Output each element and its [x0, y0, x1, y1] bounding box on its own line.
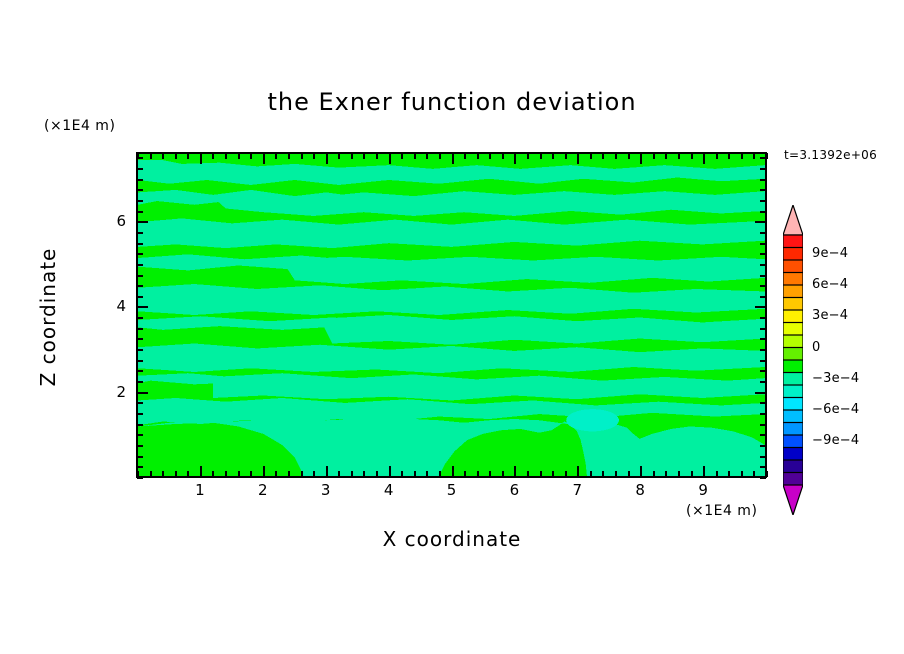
axis-tick: [760, 232, 766, 234]
axis-tick: [678, 471, 680, 477]
axis-tick: [760, 434, 766, 436]
axis-tick: [665, 471, 667, 477]
colorbar-tick-label: −6e−4: [812, 402, 859, 417]
axis-tick: [187, 471, 189, 477]
axis-tick: [703, 153, 705, 164]
axis-tick: [137, 434, 143, 436]
axis-tick: [728, 471, 730, 477]
axis-tick: [760, 360, 766, 362]
axis-tick: [401, 471, 403, 477]
axis-tick: [760, 456, 766, 458]
axis-tick: [313, 471, 315, 477]
axis-tick: [577, 153, 579, 164]
axis-tick: [137, 232, 143, 234]
axis-tick: [527, 471, 529, 477]
axis-tick: [137, 424, 143, 426]
axis-tick: [755, 392, 766, 394]
axis-tick: [716, 471, 718, 477]
timestamp-annotation: t=3.1392e+06: [784, 148, 877, 162]
y-axis-unit-label: (×1E4 m): [44, 118, 115, 134]
y-tick-label: 4: [104, 297, 126, 315]
axis-tick: [275, 471, 277, 477]
colorbar-tick-label: −3e−4: [812, 371, 859, 386]
x-tick-label: 5: [440, 481, 464, 499]
axis-tick: [477, 153, 479, 159]
axis-tick: [741, 471, 743, 477]
axis-tick: [766, 471, 768, 477]
axis-tick: [760, 370, 766, 372]
axis-tick: [552, 471, 554, 477]
axis-tick: [263, 153, 265, 164]
axis-tick: [760, 157, 766, 159]
y-tick-label: 2: [104, 383, 126, 401]
colorbar-tick-label: 0: [812, 340, 820, 355]
axis-tick: [665, 153, 667, 159]
axis-tick: [288, 153, 290, 159]
axis-tick: [464, 471, 466, 477]
axis-tick: [238, 471, 240, 477]
axis-tick: [200, 466, 202, 477]
axis-tick: [755, 306, 766, 308]
axis-tick: [137, 381, 143, 383]
x-tick-label: 7: [565, 481, 589, 499]
axis-tick: [338, 153, 340, 159]
axis-tick: [760, 328, 766, 330]
axis-tick: [137, 370, 143, 372]
axis-tick: [175, 153, 177, 159]
axis-tick: [212, 471, 214, 477]
axis-tick: [760, 253, 766, 255]
axis-tick: [137, 392, 148, 394]
axis-tick: [389, 153, 391, 164]
axis-tick: [137, 349, 143, 351]
colorbar-swatches: [783, 205, 803, 515]
y-tick-label: 6: [104, 212, 126, 230]
axis-tick: [760, 296, 766, 298]
axis-tick: [760, 168, 766, 170]
axis-tick: [760, 179, 766, 181]
axis-tick: [452, 153, 454, 164]
axis-tick: [137, 253, 143, 255]
colorbar[interactable]: [783, 205, 803, 515]
axis-tick: [760, 445, 766, 447]
contour-plot-area[interactable]: [136, 152, 767, 478]
axis-tick: [225, 153, 227, 159]
axis-tick: [615, 153, 617, 159]
axis-tick: [540, 153, 542, 159]
axis-tick: [760, 275, 766, 277]
x-tick-label: 1: [188, 481, 212, 499]
axis-tick: [760, 189, 766, 191]
axis-tick: [653, 153, 655, 159]
axis-tick: [760, 477, 766, 479]
axis-tick: [426, 153, 428, 159]
axis-tick: [137, 477, 143, 479]
axis-tick: [760, 402, 766, 404]
axis-tick: [313, 153, 315, 159]
axis-tick: [187, 153, 189, 159]
axis-tick: [150, 153, 152, 159]
axis-tick: [200, 153, 202, 164]
axis-tick: [389, 466, 391, 477]
axis-tick: [351, 153, 353, 159]
axis-tick: [741, 153, 743, 159]
axis-tick: [760, 200, 766, 202]
axis-tick: [552, 153, 554, 159]
axis-tick: [363, 471, 365, 477]
axis-tick: [703, 466, 705, 477]
axis-tick: [137, 306, 148, 308]
axis-tick: [464, 153, 466, 159]
axis-tick: [766, 153, 768, 159]
axis-tick: [653, 471, 655, 477]
axis-tick: [489, 153, 491, 159]
axis-tick: [514, 466, 516, 477]
axis-tick: [590, 153, 592, 159]
axis-tick: [691, 153, 693, 159]
axis-tick: [137, 402, 143, 404]
axis-tick: [640, 153, 642, 164]
axis-tick: [577, 466, 579, 477]
axis-tick: [250, 153, 252, 159]
axis-tick: [527, 153, 529, 159]
y-axis-title: Z coordinate: [36, 207, 60, 427]
axis-tick: [250, 471, 252, 477]
axis-tick: [137, 296, 143, 298]
axis-tick: [678, 153, 680, 159]
axis-tick: [137, 360, 143, 362]
axis-tick: [301, 471, 303, 477]
axis-tick: [137, 456, 143, 458]
axis-tick: [477, 471, 479, 477]
axis-tick: [288, 471, 290, 477]
axis-tick: [137, 243, 143, 245]
axis-tick: [489, 471, 491, 477]
axis-tick: [753, 471, 755, 477]
axis-tick: [137, 275, 143, 277]
axis-tick: [401, 153, 403, 159]
axis-tick: [691, 471, 693, 477]
x-tick-label: 9: [691, 481, 715, 499]
page-title: the Exner function deviation: [0, 88, 904, 116]
colorbar-tick-label: 9e−4: [812, 246, 848, 261]
axis-tick: [760, 338, 766, 340]
axis-tick: [640, 466, 642, 477]
axis-tick: [137, 189, 143, 191]
axis-tick: [439, 153, 441, 159]
axis-tick: [452, 466, 454, 477]
axis-tick: [760, 413, 766, 415]
axis-tick: [755, 221, 766, 223]
x-tick-label: 2: [251, 481, 275, 499]
contour-field: [138, 154, 765, 476]
colorbar-tick-label: −9e−4: [812, 433, 859, 448]
axis-tick: [760, 466, 766, 468]
axis-tick: [728, 153, 730, 159]
axis-tick: [760, 381, 766, 383]
axis-tick: [351, 471, 353, 477]
axis-tick: [716, 153, 718, 159]
axis-tick: [760, 264, 766, 266]
axis-tick: [137, 338, 143, 340]
axis-tick: [137, 466, 143, 468]
x-tick-label: 6: [502, 481, 526, 499]
axis-tick: [502, 153, 504, 159]
x-tick-label: 4: [377, 481, 401, 499]
axis-tick: [301, 153, 303, 159]
axis-tick: [162, 153, 164, 159]
x-axis-title: X coordinate: [0, 527, 904, 551]
axis-tick: [363, 153, 365, 159]
axis-tick: [376, 153, 378, 159]
axis-tick: [565, 471, 567, 477]
colorbar-tick-label: 6e−4: [812, 277, 848, 292]
axis-tick: [137, 168, 143, 170]
axis-tick: [137, 328, 143, 330]
x-tick-label: 8: [628, 481, 652, 499]
axis-tick: [760, 424, 766, 426]
axis-tick: [137, 445, 143, 447]
axis-tick: [150, 471, 152, 477]
axis-tick: [590, 471, 592, 477]
axis-tick: [376, 471, 378, 477]
axis-tick: [414, 471, 416, 477]
axis-tick: [514, 153, 516, 164]
axis-tick: [263, 466, 265, 477]
axis-tick: [162, 471, 164, 477]
axis-tick: [760, 285, 766, 287]
axis-tick: [414, 153, 416, 159]
axis-tick: [137, 413, 143, 415]
axis-tick: [137, 157, 143, 159]
colorbar-tick-label: 3e−4: [812, 308, 848, 323]
axis-tick: [502, 471, 504, 477]
axis-tick: [175, 471, 177, 477]
axis-tick: [212, 153, 214, 159]
axis-tick: [760, 349, 766, 351]
axis-tick: [137, 200, 143, 202]
axis-tick: [602, 153, 604, 159]
x-axis-unit-label: (×1E4 m): [686, 503, 757, 519]
axis-tick: [540, 471, 542, 477]
axis-tick: [238, 153, 240, 159]
axis-tick: [753, 153, 755, 159]
axis-tick: [760, 243, 766, 245]
axis-tick: [760, 317, 766, 319]
axis-tick: [439, 471, 441, 477]
axis-tick: [426, 471, 428, 477]
axis-tick: [628, 471, 630, 477]
axis-tick: [326, 153, 328, 164]
axis-tick: [137, 211, 143, 213]
axis-tick: [615, 471, 617, 477]
axis-tick: [137, 179, 143, 181]
axis-tick: [225, 471, 227, 477]
axis-tick: [326, 466, 328, 477]
x-tick-label: 3: [314, 481, 338, 499]
axis-tick: [628, 153, 630, 159]
axis-tick: [338, 471, 340, 477]
axis-tick: [760, 211, 766, 213]
axis-tick: [602, 471, 604, 477]
axis-tick: [137, 264, 143, 266]
axis-tick: [275, 153, 277, 159]
axis-tick: [137, 221, 148, 223]
axis-tick: [137, 317, 143, 319]
axis-tick: [565, 153, 567, 159]
axis-tick: [137, 285, 143, 287]
